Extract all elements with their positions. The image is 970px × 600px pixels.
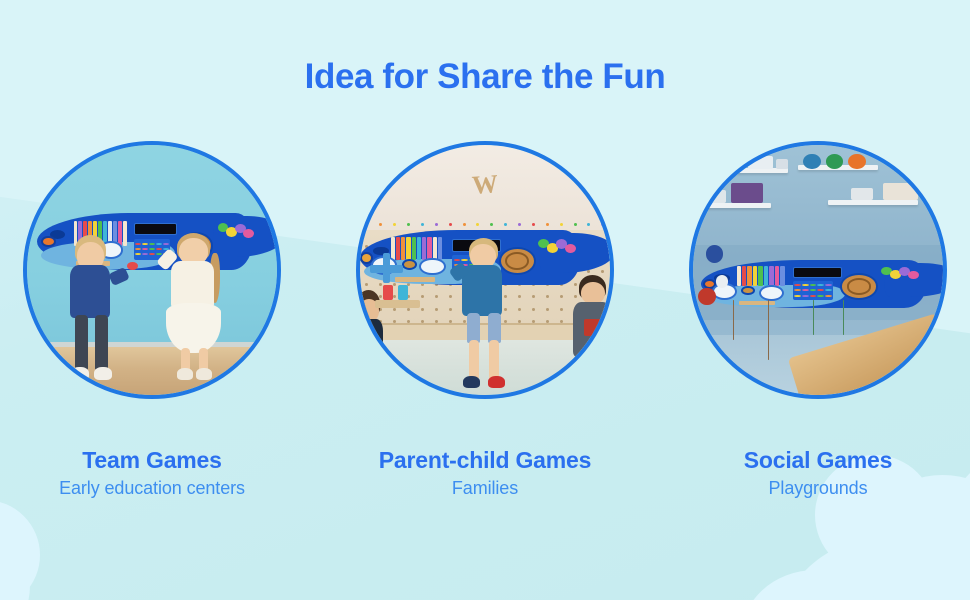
shelf-object: [803, 154, 821, 169]
shelf-object: [883, 183, 918, 201]
photo-circle-team-games: [23, 141, 281, 399]
toy-peg: [398, 285, 408, 300]
toy-shelf: [375, 300, 420, 308]
child-figure: [167, 233, 222, 381]
card-social-games: Social Games Playgrounds: [689, 141, 947, 499]
page-title: Idea for Share the Fun: [0, 57, 970, 97]
hanging-string: [768, 300, 769, 360]
card-team-games: Team Games Early education centers: [23, 141, 281, 499]
child-figure: [460, 238, 508, 388]
card-subtitle: Playgrounds: [689, 478, 947, 499]
hanging-string: [813, 300, 814, 335]
card-title: Social Games: [689, 447, 947, 473]
wall-shelf: [703, 168, 788, 173]
shelf-object: [731, 183, 764, 203]
shelf-object: [748, 156, 773, 169]
shelf-object: [711, 190, 726, 203]
caption-team-games: Team Games Early education centers: [23, 447, 281, 499]
wall-shelf: [701, 203, 771, 208]
scene-playground: [693, 145, 943, 395]
hanging-string: [843, 300, 844, 335]
wall-decoration: [716, 275, 729, 288]
photo-circle-social-games: [689, 141, 947, 399]
card-title: Team Games: [23, 447, 281, 473]
scene-early-education-center: [27, 145, 277, 395]
toy-cross: [383, 253, 391, 283]
caption-parent-child-games: Parent-child Games Families: [356, 447, 614, 499]
caption-social-games: Social Games Playgrounds: [689, 447, 947, 499]
card-row: Team Games Early education centers W: [0, 141, 970, 499]
wall-decoration: [706, 245, 724, 263]
toy-peg: [383, 285, 393, 300]
wall-decoration: [698, 288, 716, 306]
scene-family-playroom: W: [360, 145, 610, 395]
photo-circle-parent-child-games: W: [356, 141, 614, 399]
poster-canvas: Idea for Share the Fun: [0, 0, 970, 600]
shelf-object: [776, 159, 789, 169]
wall-shelf: [828, 200, 918, 205]
hanging-string: [733, 300, 734, 340]
child-figure: [573, 275, 611, 370]
card-title: Parent-child Games: [356, 447, 614, 473]
shelf-object: [848, 154, 866, 169]
shelf-object: [826, 154, 844, 169]
card-parent-child-games: W: [356, 141, 614, 499]
card-subtitle: Early education centers: [23, 478, 281, 499]
colored-peg-row: [360, 223, 610, 226]
child-figure: [67, 235, 117, 380]
card-subtitle: Families: [356, 478, 614, 499]
shelf-object: [851, 188, 874, 201]
